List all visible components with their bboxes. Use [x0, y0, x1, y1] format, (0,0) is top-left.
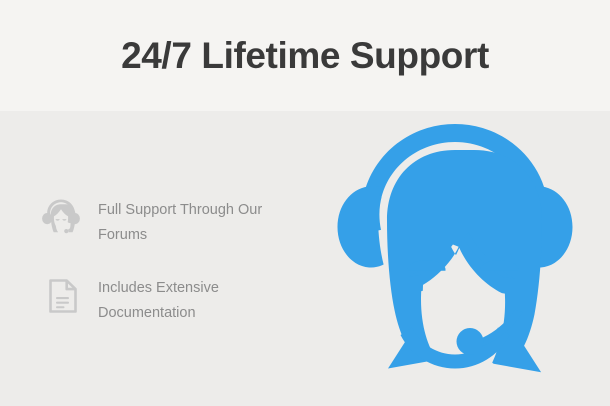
page-title: 24/7 Lifetime Support — [0, 0, 610, 111]
support-operator-headset-icon — [38, 195, 84, 241]
document-page-icon — [38, 273, 84, 319]
feature-item-support: Full Support Through Our Forums — [38, 193, 308, 249]
feature-list: Full Support Through Our Forums — [38, 193, 308, 349]
support-operator-headset-illustration — [310, 122, 600, 380]
feature-label: Full Support Through Our Forums — [98, 193, 298, 248]
feature-label: Includes Extensive Documentation — [98, 271, 298, 326]
header-band: 24/7 Lifetime Support — [0, 0, 610, 111]
feature-item-documentation: Includes Extensive Documentation — [38, 271, 308, 327]
support-banner: 24/7 Lifetime Support — [0, 0, 610, 406]
